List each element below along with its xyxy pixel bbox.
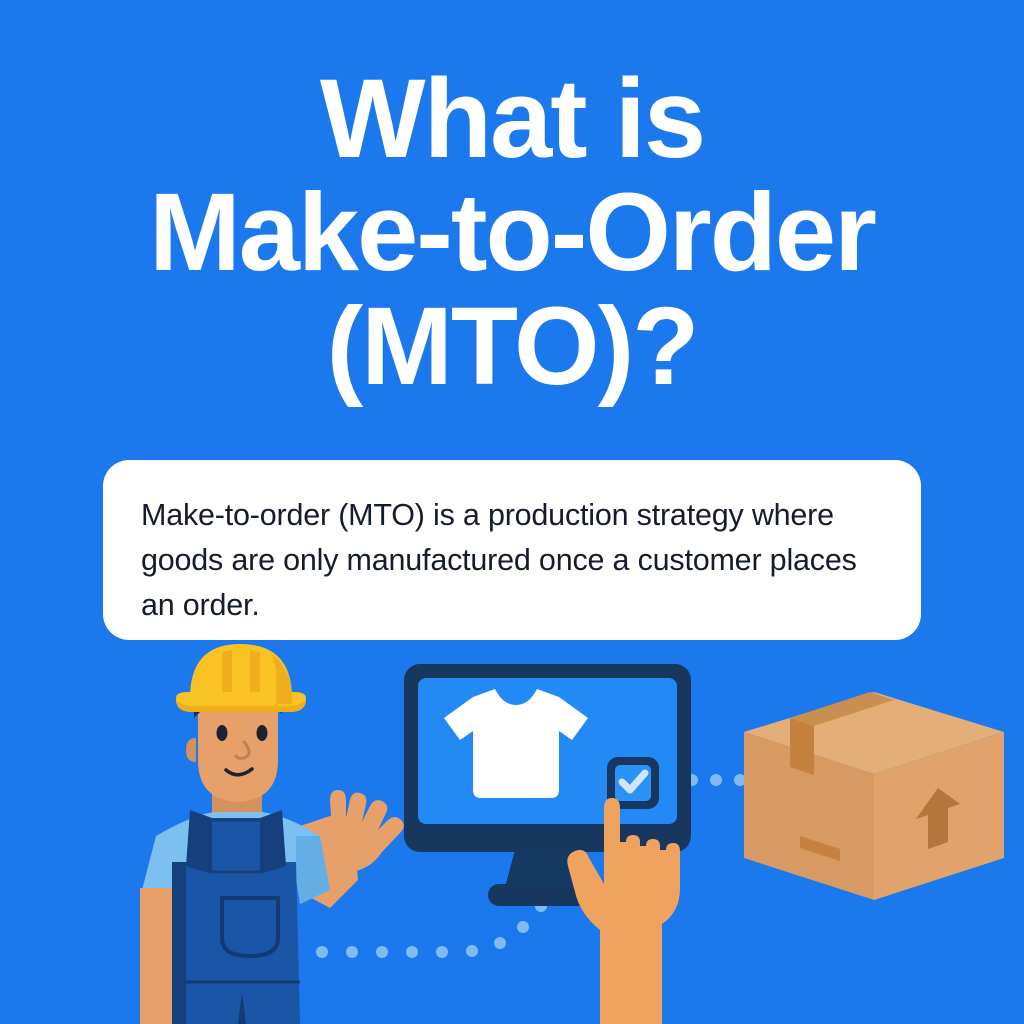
cardboard-box [744,692,1004,900]
worker-waving-hand [313,790,404,872]
worker-overall-shade [172,862,186,1024]
description-card: Make-to-order (MTO) is a production stra… [103,460,921,640]
worker-overall-strap-right [260,810,286,874]
worker-helmet-ridge-left [222,650,232,692]
title-line-3: (MTO)? [0,290,1024,404]
page-title: What is Make-to-Order (MTO)? [0,62,1024,404]
worker-eye-right [257,725,268,741]
worker-ear [186,738,196,762]
description-text: Make-to-order (MTO) is a production stra… [141,493,883,628]
title-line-1: What is [0,62,1024,176]
worker-overall-strap-left [186,810,212,874]
illustration [0,630,1024,1024]
worker-overalls-bib [208,818,264,874]
worker-left-arm [140,888,176,1024]
worker-eye-left [217,725,228,741]
worker-helmet-ridge-right [250,650,260,692]
infographic-canvas: What is Make-to-Order (MTO)? Make-to-ord… [0,0,1024,1024]
worker-character [140,644,404,1024]
box-flap-shadow [790,718,814,775]
title-line-2: Make-to-Order [0,176,1024,290]
worker-overalls [172,862,300,1024]
